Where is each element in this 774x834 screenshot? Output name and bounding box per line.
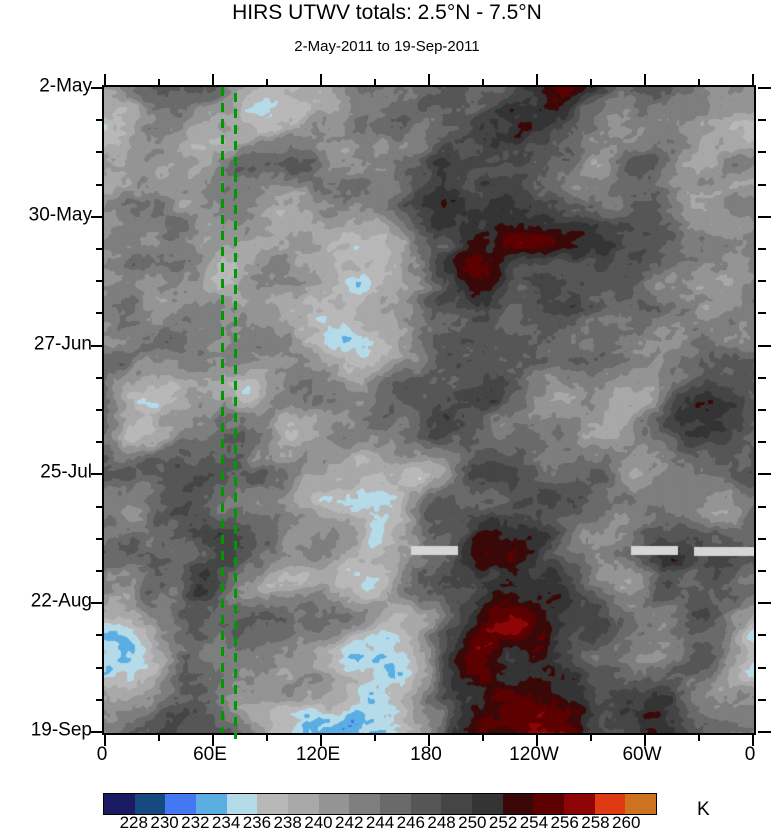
y-tick-minor-0-1	[96, 119, 104, 121]
colorbar-tick-250: 250	[458, 814, 486, 831]
y-tick-minor-4-3	[96, 699, 104, 701]
colorbar-tick-234: 234	[212, 814, 240, 831]
y-tick-right-minor-3-1	[758, 506, 766, 508]
colorbar-tick-240: 240	[304, 814, 332, 831]
x-tick-top-major-360	[752, 74, 754, 87]
y-tick-major-5	[91, 731, 104, 733]
x-tick-minor-210	[482, 733, 484, 741]
x-axis-label-180: 180	[410, 745, 442, 764]
y-tick-minor-1-2	[96, 280, 104, 282]
y-tick-major-4	[91, 602, 104, 604]
y-tick-right-major-4	[758, 602, 771, 604]
colorbar-tick-252: 252	[489, 814, 517, 831]
colorbar-swatch-11	[441, 794, 472, 814]
y-tick-minor-4-1	[96, 634, 104, 636]
y-tick-right-major-3	[758, 473, 771, 475]
x-tick-minor-330	[698, 733, 700, 741]
x-tick-minor-270	[590, 733, 592, 741]
y-tick-minor-1-1	[96, 248, 104, 250]
x-tick-top-major-0	[104, 74, 106, 87]
y-tick-right-major-0	[758, 87, 771, 89]
colorbar-swatches	[103, 793, 657, 815]
hovmoller-plot-area	[102, 85, 756, 735]
colorbar-swatch-4	[227, 794, 258, 814]
colorbar-tick-258: 258	[581, 814, 609, 831]
x-tick-top-major-60	[212, 74, 214, 87]
x-tick-top-major-300	[644, 74, 646, 87]
y-tick-right-minor-1-2	[758, 280, 766, 282]
x-axis-label-60E: 60E	[193, 745, 227, 764]
page-subtitle: 2-May-2011 to 19-Sep-2011	[0, 38, 774, 56]
y-axis-label-2-May: 2-May	[0, 77, 92, 96]
colorbar-tick-246: 246	[397, 814, 425, 831]
colorbar-swatch-15	[564, 794, 595, 814]
colorbar-swatch-17	[625, 794, 656, 814]
colorbar-tick-248: 248	[427, 814, 455, 831]
colorbar-tick-236: 236	[243, 814, 271, 831]
colorbar-swatch-14	[533, 794, 564, 814]
colorbar-tick-256: 256	[550, 814, 578, 831]
colorbar-tick-232: 232	[181, 814, 209, 831]
y-tick-major-0	[91, 87, 104, 89]
hovmoller-field-canvas	[104, 87, 754, 733]
x-tick-top-major-240	[536, 74, 538, 87]
x-tick-minor-150	[374, 733, 376, 741]
x-axis-label-0: 0	[745, 745, 756, 764]
y-tick-minor-3-1	[96, 506, 104, 508]
y-tick-minor-2-2	[96, 409, 104, 411]
y-tick-right-major-5	[758, 731, 771, 733]
colorbar-tick-242: 242	[335, 814, 363, 831]
colorbar-swatch-3	[196, 794, 227, 814]
x-tick-top-minor-90	[266, 79, 268, 87]
y-tick-major-1	[91, 216, 104, 218]
y-tick-right-minor-2-2	[758, 409, 766, 411]
page-title: HIRS UTWV totals: 2.5°N - 7.5°N	[0, 0, 774, 26]
colorbar-tick-260: 260	[612, 814, 640, 831]
x-tick-top-minor-330	[698, 79, 700, 87]
colorbar-swatch-16	[595, 794, 626, 814]
y-tick-minor-3-3	[96, 570, 104, 572]
y-tick-right-minor-1-1	[758, 248, 766, 250]
x-tick-top-major-120	[320, 74, 322, 87]
colorbar-tick-228: 228	[120, 814, 148, 831]
colorbar-swatch-10	[411, 794, 442, 814]
y-axis-label-25-Jul: 25-Jul	[0, 463, 92, 482]
y-tick-minor-2-3	[96, 441, 104, 443]
y-tick-minor-4-2	[96, 667, 104, 669]
x-tick-minor-30	[158, 733, 160, 741]
colorbar-swatch-12	[472, 794, 503, 814]
x-tick-top-minor-150	[374, 79, 376, 87]
colorbar-swatch-9	[380, 794, 411, 814]
y-tick-right-minor-4-1	[758, 634, 766, 636]
colorbar	[103, 793, 657, 815]
x-tick-top-minor-30	[158, 79, 160, 87]
x-tick-top-minor-270	[590, 79, 592, 87]
colorbar-swatch-7	[319, 794, 350, 814]
colorbar-swatch-13	[503, 794, 534, 814]
y-tick-right-minor-0-1	[758, 119, 766, 121]
y-tick-major-2	[91, 345, 104, 347]
x-axis-label-120W: 120W	[509, 745, 559, 764]
y-tick-right-minor-3-3	[758, 570, 766, 572]
y-axis-label-19-Sep: 19-Sep	[0, 721, 92, 740]
green-dashed-line-east	[234, 93, 237, 739]
y-tick-right-minor-0-2	[758, 151, 766, 153]
y-tick-right-minor-4-3	[758, 699, 766, 701]
y-tick-right-minor-2-3	[758, 441, 766, 443]
x-tick-minor-90	[266, 733, 268, 741]
y-axis-label-30-May: 30-May	[0, 206, 92, 225]
y-axis-label-22-Aug: 22-Aug	[0, 592, 92, 611]
y-tick-right-minor-1-3	[758, 312, 766, 314]
y-tick-minor-3-2	[96, 538, 104, 540]
y-tick-minor-0-2	[96, 151, 104, 153]
colorbar-swatch-0	[104, 794, 135, 814]
y-tick-right-minor-4-2	[758, 667, 766, 669]
colorbar-tick-230: 230	[150, 814, 178, 831]
colorbar-tick-254: 254	[520, 814, 548, 831]
colorbar-tick-238: 238	[273, 814, 301, 831]
green-dashed-line-west	[221, 87, 224, 733]
x-tick-top-minor-210	[482, 79, 484, 87]
colorbar-swatch-1	[135, 794, 166, 814]
y-tick-right-minor-0-3	[758, 184, 766, 186]
colorbar-swatch-5	[257, 794, 288, 814]
y-tick-right-major-2	[758, 345, 771, 347]
x-tick-top-major-180	[428, 74, 430, 87]
colorbar-tick-244: 244	[366, 814, 394, 831]
y-tick-major-3	[91, 473, 104, 475]
y-tick-minor-0-3	[96, 184, 104, 186]
colorbar-swatch-8	[349, 794, 380, 814]
colorbar-swatch-2	[165, 794, 196, 814]
y-tick-right-major-1	[758, 216, 771, 218]
y-tick-minor-2-1	[96, 377, 104, 379]
y-tick-minor-1-3	[96, 312, 104, 314]
x-axis-label-60W: 60W	[622, 745, 661, 764]
y-axis-label-27-Jun: 27-Jun	[0, 335, 92, 354]
y-tick-right-minor-3-2	[758, 538, 766, 540]
colorbar-swatch-6	[288, 794, 319, 814]
x-axis-label-120E: 120E	[296, 745, 340, 764]
x-axis-label-0: 0	[97, 745, 108, 764]
colorbar-unit-label: K	[697, 800, 710, 819]
y-tick-right-minor-2-1	[758, 377, 766, 379]
